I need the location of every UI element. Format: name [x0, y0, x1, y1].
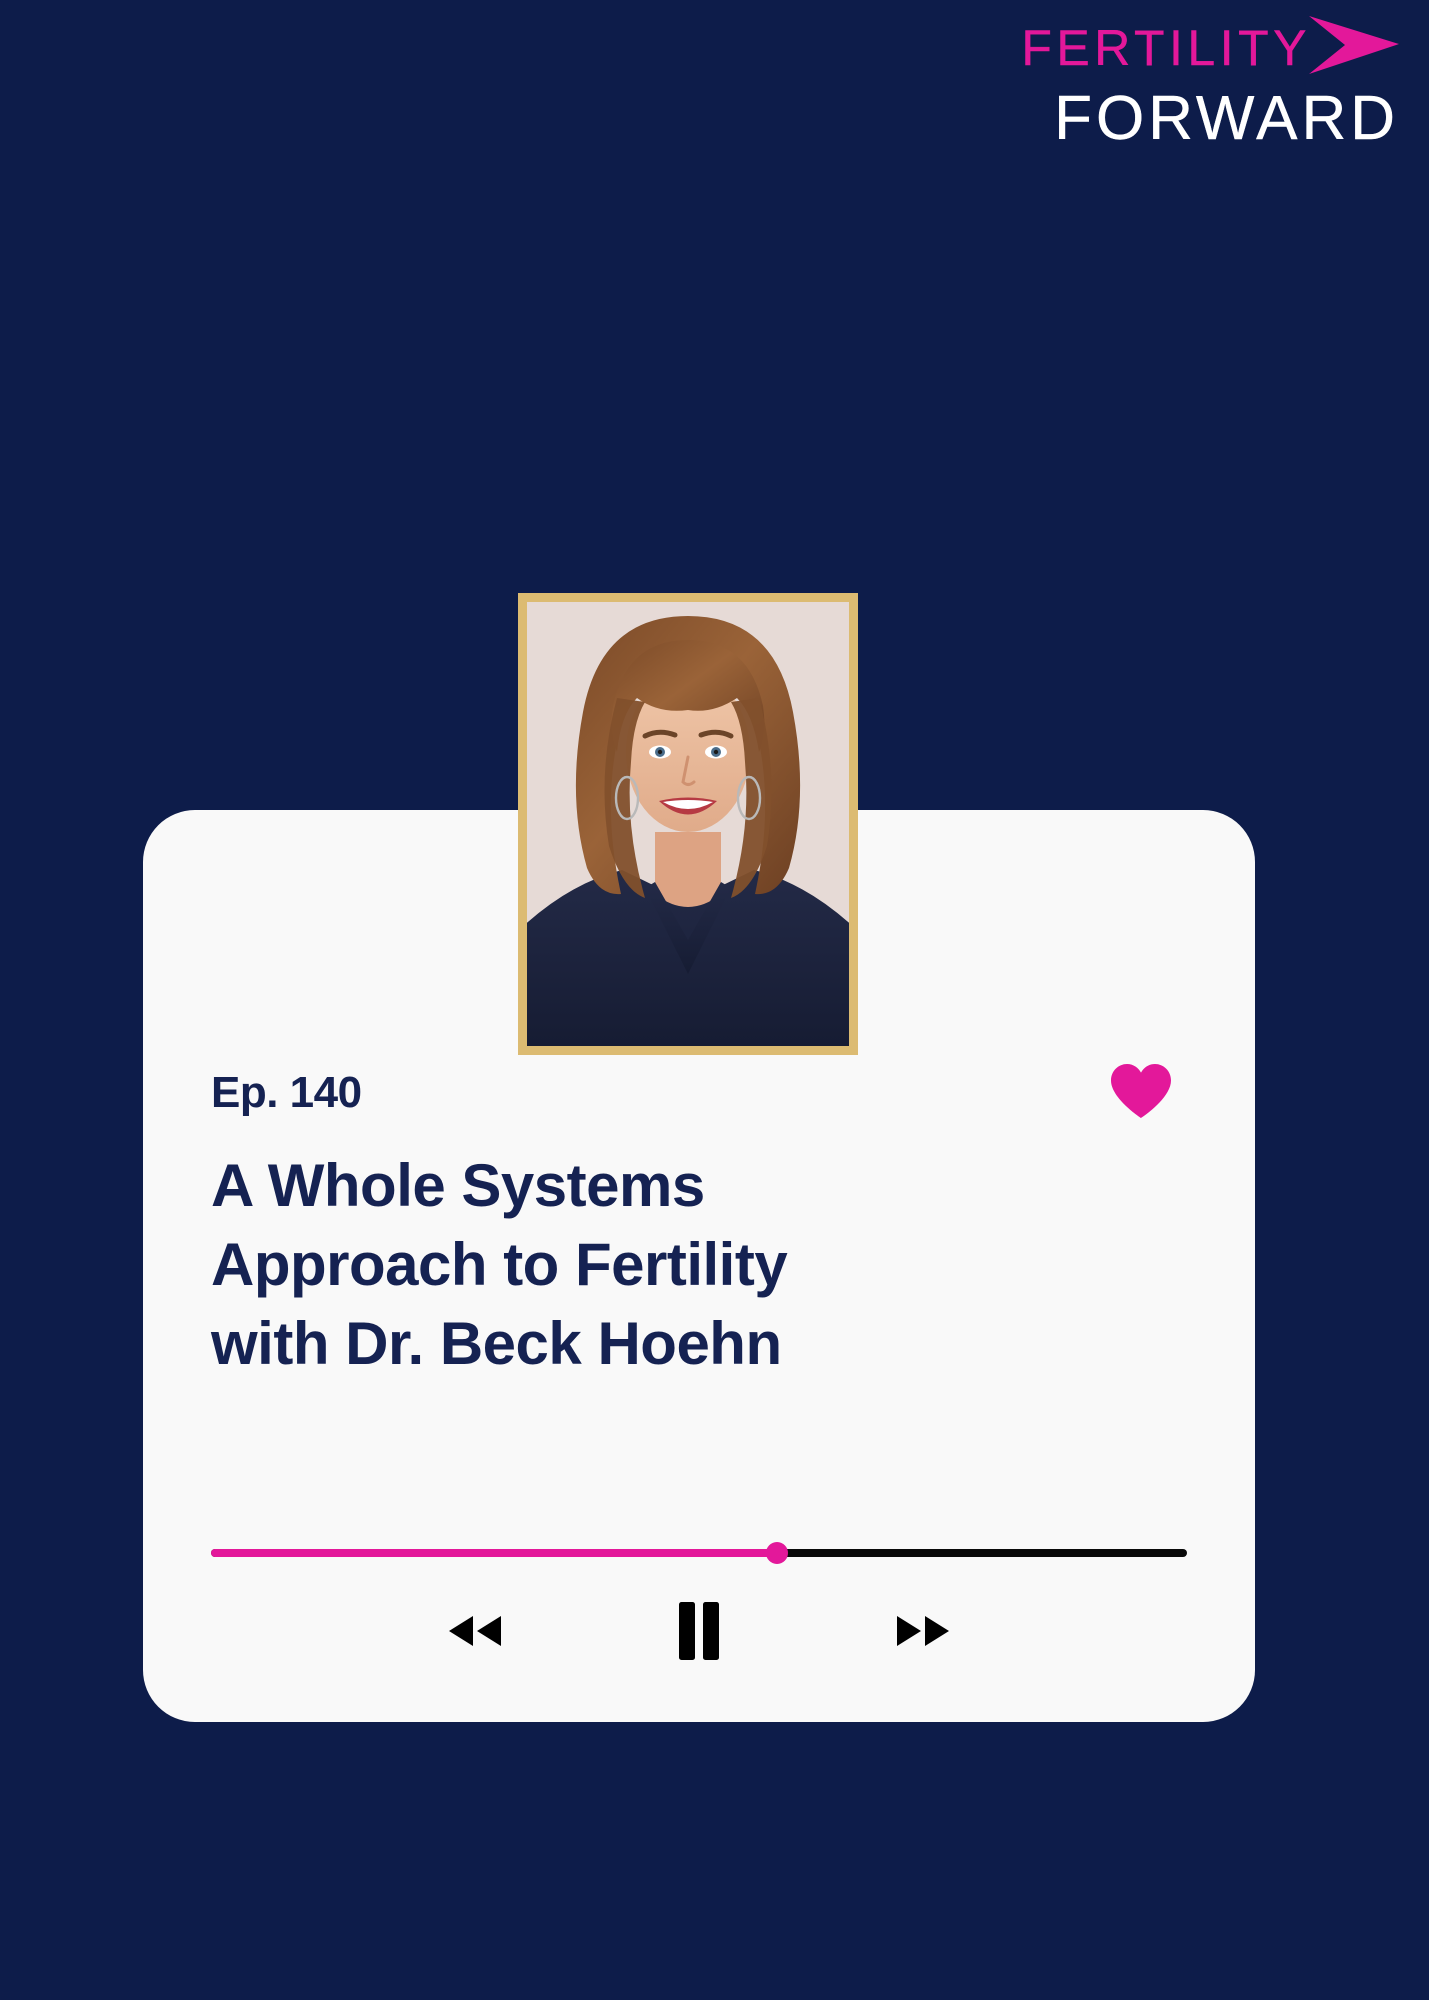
- progress-scrubber[interactable]: [211, 1538, 1187, 1568]
- rewind-button[interactable]: [444, 1610, 506, 1652]
- brand-logo: FERTILITY FORWARD: [1011, 14, 1401, 150]
- episode-title-line-2: Approach to Fertility: [211, 1225, 1187, 1304]
- fast-forward-button[interactable]: [892, 1610, 954, 1652]
- heart-icon: [1108, 1061, 1174, 1126]
- guest-portrait-frame: [518, 593, 858, 1055]
- progress-filled: [211, 1549, 777, 1557]
- brand-logo-top-row: FERTILITY: [1011, 14, 1401, 82]
- playback-controls: [143, 1600, 1255, 1662]
- favorite-heart-button[interactable]: [1105, 1060, 1177, 1126]
- episode-title: A Whole Systems Approach to Fertility wi…: [211, 1146, 1187, 1384]
- episode-number-label: Ep. 140: [211, 1071, 362, 1115]
- episode-title-line-3: with Dr. Beck Hoehn: [211, 1304, 1187, 1383]
- episode-title-line-1: A Whole Systems: [211, 1146, 1187, 1225]
- progress-thumb[interactable]: [766, 1542, 788, 1564]
- chevron-arrow-icon: [1305, 14, 1401, 80]
- pause-icon: [676, 1600, 722, 1662]
- brand-wordmark-fertility: FERTILITY: [1021, 23, 1311, 73]
- episode-header-row: Ep. 140: [211, 1060, 1187, 1126]
- pause-button[interactable]: [676, 1600, 722, 1662]
- rewind-icon: [444, 1610, 506, 1652]
- guest-portrait-image: [527, 602, 849, 1046]
- fast-forward-icon: [892, 1610, 954, 1652]
- brand-wordmark-forward: FORWARD: [1011, 88, 1399, 150]
